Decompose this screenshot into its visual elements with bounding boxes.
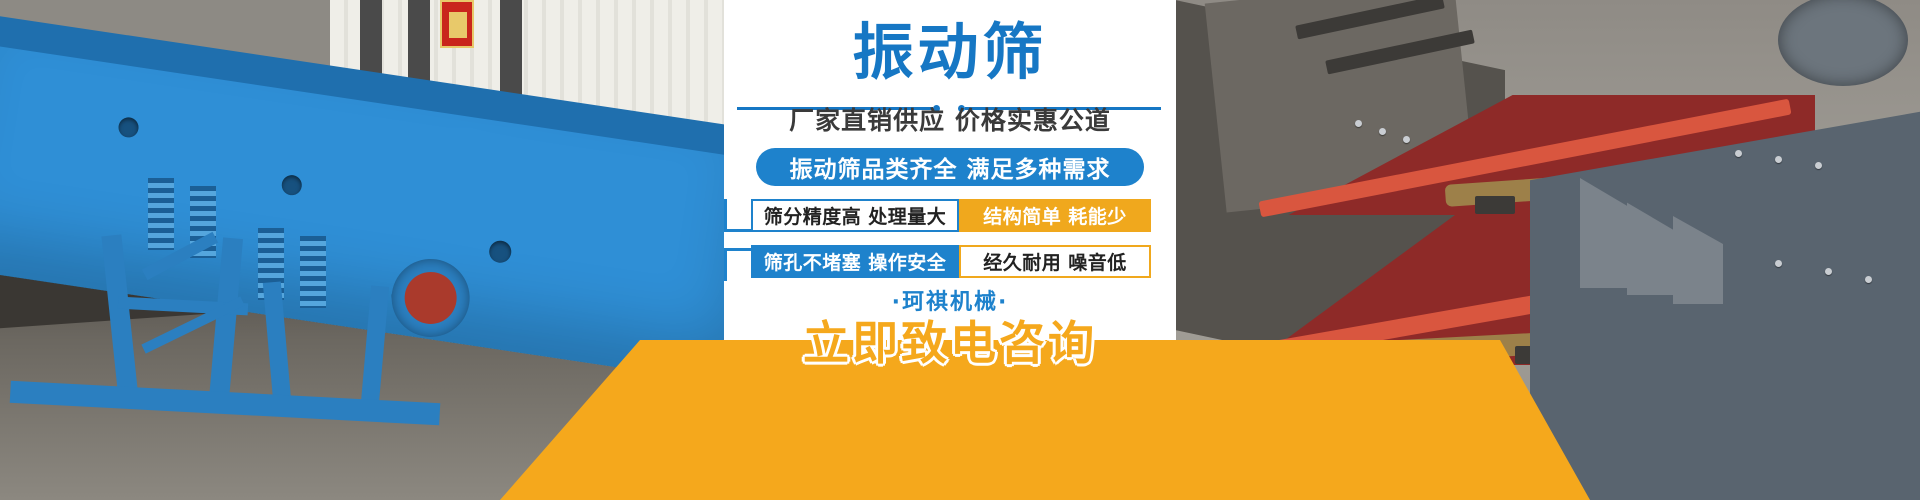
feature-1-left: 筛分精度高 处理量大 bbox=[751, 199, 959, 232]
connector-elbow-row-1 bbox=[724, 199, 753, 232]
right-photo-rivet-7 bbox=[1775, 260, 1782, 267]
left-photo-spring-4 bbox=[300, 236, 326, 308]
right-photo-rivet-4 bbox=[1735, 150, 1742, 157]
right-photo-rivet-2 bbox=[1379, 128, 1386, 135]
right-photo-rivet-3 bbox=[1403, 136, 1410, 143]
feature-1-right: 结构简单 耗能少 bbox=[959, 199, 1151, 232]
right-photo-rivet-5 bbox=[1775, 156, 1782, 163]
page-title: 振动筛 bbox=[724, 17, 1176, 89]
right-photo-rivet-6 bbox=[1815, 162, 1822, 169]
left-photo-drum bbox=[386, 254, 475, 343]
feature-row-2: 筛孔不堵塞 操作安全 经久耐用 噪音低 bbox=[751, 245, 1151, 278]
left-photo-wall-sign bbox=[440, 0, 474, 48]
right-photo-rivet-1 bbox=[1355, 120, 1362, 127]
subtitle: 厂家直销供应 价格实惠公道 bbox=[724, 103, 1176, 139]
right-photo-rivet-9 bbox=[1865, 276, 1872, 283]
connector-elbow-row-2 bbox=[724, 248, 753, 281]
right-photo-rivet-8 bbox=[1825, 268, 1832, 275]
highlight-pill: 振动筛品类齐全 满足多种需求 bbox=[756, 148, 1144, 186]
call-to-action[interactable]: 立即致电咨询 bbox=[724, 312, 1176, 374]
feature-2-right: 经久耐用 噪音低 bbox=[959, 245, 1151, 278]
right-photo-clamp-u1 bbox=[1475, 196, 1515, 214]
left-photo-bolt-hole-3 bbox=[488, 239, 513, 264]
left-photo-bolt-hole-2 bbox=[280, 174, 303, 197]
left-photo-spring-1 bbox=[148, 178, 174, 250]
feature-2-left: 筛孔不堵塞 操作安全 bbox=[751, 245, 959, 278]
left-photo-bolt-hole-1 bbox=[117, 116, 140, 139]
feature-row-1: 筛分精度高 处理量大 结构简单 耗能少 bbox=[751, 199, 1151, 232]
product-banner: 振动筛 厂家直销供应 价格实惠公道 振动筛品类齐全 满足多种需求 筛分精度高 处… bbox=[0, 0, 1920, 500]
